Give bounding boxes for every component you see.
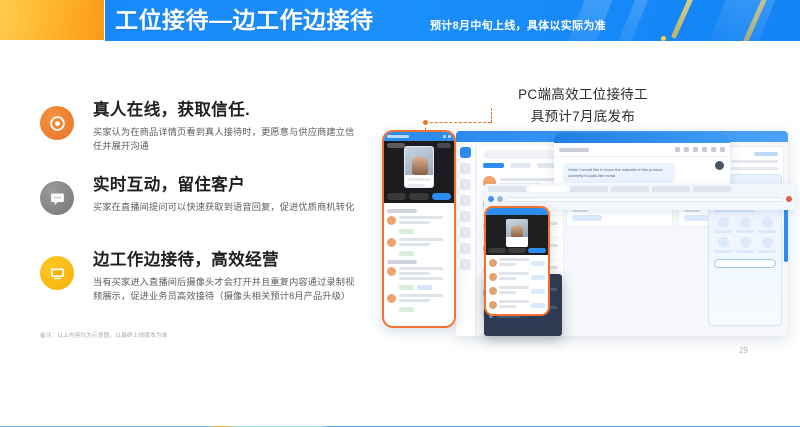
banner-shine-2 [610,0,651,41]
message-body [399,267,451,282]
folder-icon[interactable] [702,147,707,152]
more-icon[interactable] [448,135,451,138]
feature-title-1: 真人在线，获取信任. [93,100,360,121]
feature-title-2: 实时互动，留住客户 [93,175,360,196]
profile-icon[interactable] [786,196,792,202]
feature-item-1: 真人在线，获取信任. 买家认为在商品详情页看到真人接待时，更愿意与供应商建立信任… [40,100,360,158]
message-row [489,272,545,282]
list-tabs [478,163,563,172]
product-image [405,147,433,175]
share-icon[interactable] [443,135,446,138]
sidebar-icon-8[interactable] [460,259,471,270]
call-button[interactable] [409,193,428,200]
back-icon[interactable] [488,196,494,202]
chat-title-bar [554,133,730,143]
chat-button[interactable] [387,193,406,200]
message-row [489,300,545,310]
message-tag [531,275,545,280]
message-tag [531,303,545,308]
mockup-composition: PC端高效工位接待工 具预计7月底发布 [368,78,800,353]
call-button[interactable] [508,248,526,253]
mockup-callout: PC端高效工位接待工 具预计7月底发布 [488,84,678,128]
phone2-status-bar [486,208,548,215]
phone2-action-buttons [486,248,548,253]
phone2-video-area [486,215,548,255]
forward-icon[interactable] [497,196,503,202]
quick-action-grid [714,217,776,253]
card-icon[interactable] [711,147,716,152]
quick-action[interactable] [714,217,732,233]
sidebar-icon-5[interactable] [460,211,471,222]
avatar [489,259,497,267]
message-row [489,258,545,268]
avatar [489,287,497,295]
message-body [399,294,451,304]
quick-action[interactable] [758,237,776,253]
feature-item-3: 边工作边接待，高效经营 当有买家进入直播间后摄像头才会打开并且重复内容通过录制视… [40,250,360,308]
message-body [499,300,529,310]
search-icon[interactable] [693,147,698,152]
tag-row [399,251,451,256]
quick-action[interactable] [758,217,776,233]
message-row [489,286,545,296]
panel-primary-button[interactable] [714,259,776,268]
sidebar-icon-7[interactable] [460,243,471,254]
avatar [489,301,497,309]
browser-tab[interactable] [488,186,526,192]
feature-list: 真人在线，获取信任. 买家认为在商品详情页看到真人接待时，更愿意与供应商建立信任… [40,100,360,325]
monitor-icon [40,256,74,290]
product-card[interactable] [404,146,434,188]
slide-header: 工位接待—边工作边接待 预计8月中旬上线，具体以实际为准 [0,0,800,47]
chat-message-bubble: Hello! I would like to know the material… [563,163,675,183]
message-body [499,258,529,268]
card-action[interactable] [572,215,602,221]
feature-item-2: 实时互动，留住客户 买家在直播间提问可以快速获取到语音回复，促进优质商机转化 [40,175,360,233]
callout-connector-v2 [491,108,492,123]
avatar [489,273,497,281]
avatar [387,267,396,276]
scrollbar[interactable] [784,202,788,262]
phone2-content [486,255,548,316]
message-row [387,216,451,226]
chat-avatar [715,161,724,170]
tag-row [399,229,451,234]
avatar [387,238,396,247]
viewer-count [437,143,451,148]
search-input[interactable] [483,150,558,159]
message-row [387,238,451,248]
image-icon[interactable] [684,147,689,152]
product-title-line [408,178,430,181]
mobile-phone-mockup [382,130,456,328]
message-body [399,216,451,226]
sidebar-icon-6[interactable] [460,227,471,238]
app-title [387,135,409,138]
feature-title-3: 边工作边接待，高效经营 [93,250,360,271]
product-card[interactable] [506,219,528,247]
tag-row [399,307,451,312]
browser-tab[interactable] [693,186,731,192]
address-bar[interactable] [506,197,783,202]
avatar [387,294,396,303]
feature-desc-3: 当有买家进入直播间后摄像头才会打开并且重复内容通过录制视频展示，促进业务员高效接… [93,275,360,303]
address-row [484,194,796,204]
phone-status-bar [384,132,454,141]
sidebar-icon-2[interactable] [460,163,471,174]
live-badge [387,143,405,148]
section-title [387,260,417,264]
phone-action-buttons [384,193,454,200]
person-icon[interactable] [720,147,725,152]
footnote: 备注：以上内容均为示意图，以最终上线版本为准 [40,331,167,339]
product-image [506,219,528,237]
message-body [499,286,529,296]
sidebar-icon-3[interactable] [460,179,471,190]
sidebar-icon-1[interactable] [460,147,471,158]
slide-root: 工位接待—边工作边接待 预计8月中旬上线，具体以实际为准 真人在线，获取信任. … [0,0,800,427]
quick-action[interactable] [714,237,732,253]
quick-action[interactable] [736,237,754,253]
emoji-icon[interactable] [675,147,680,152]
message-tag [531,289,545,294]
feature-desc-2: 买家在直播间提问可以快速获取到语音回复，促进优质商机转化 [93,200,360,214]
callout-connector-h1 [425,122,491,123]
mobile-phone-mockup-small [484,206,550,316]
banner-dot [661,36,666,41]
browser-tab[interactable] [611,186,649,192]
browser-tab-active[interactable] [529,186,567,192]
contact-name [559,148,589,152]
browser-tab[interactable] [570,186,608,192]
inquiry-button[interactable] [432,193,451,200]
browser-sidebar [456,142,476,336]
message-row [387,294,451,304]
phone-content-section [384,203,454,319]
quick-action[interactable] [736,217,754,233]
section-title [387,209,417,213]
message-row [387,267,451,282]
header-subtitle: 预计8月中旬上线，具体以实际为准 [430,17,606,33]
message-body [499,272,529,282]
chat-button[interactable] [488,248,506,253]
avatar [387,216,396,225]
callout-line-2: 具预计7月底发布 [488,106,678,128]
connector-dot-top [422,119,429,126]
banner-diagonal-1 [671,0,694,39]
banner-shine-3 [704,0,777,41]
tab-unread[interactable] [510,163,531,168]
page-title: 工位接待—边工作边接待 [115,6,374,34]
presenter-figure [511,225,523,237]
chat-toolbar [675,147,725,152]
tag-row [399,285,451,290]
product-price-line [408,184,425,187]
target-eye-icon [40,106,74,140]
message-tag [531,261,545,266]
feature-desc-1: 买家认为在商品详情页看到真人接待时，更愿意与供应商建立信任并展开沟通 [93,125,360,153]
chat-contact-bar [554,143,730,157]
inquiry-button[interactable] [528,248,546,253]
presenter-figure [412,157,428,175]
callout-line-1: PC端高效工位接待工 [488,84,678,106]
header-orange-block [0,0,104,40]
tab-row [484,184,796,194]
page-number: 29 [739,346,748,355]
tab-all[interactable] [483,163,504,168]
chat-bubble-icon [40,181,74,215]
sidebar-icon-4[interactable] [460,195,471,206]
browser-tab[interactable] [652,186,690,192]
live-video-area [384,141,454,203]
message-body [399,238,451,248]
